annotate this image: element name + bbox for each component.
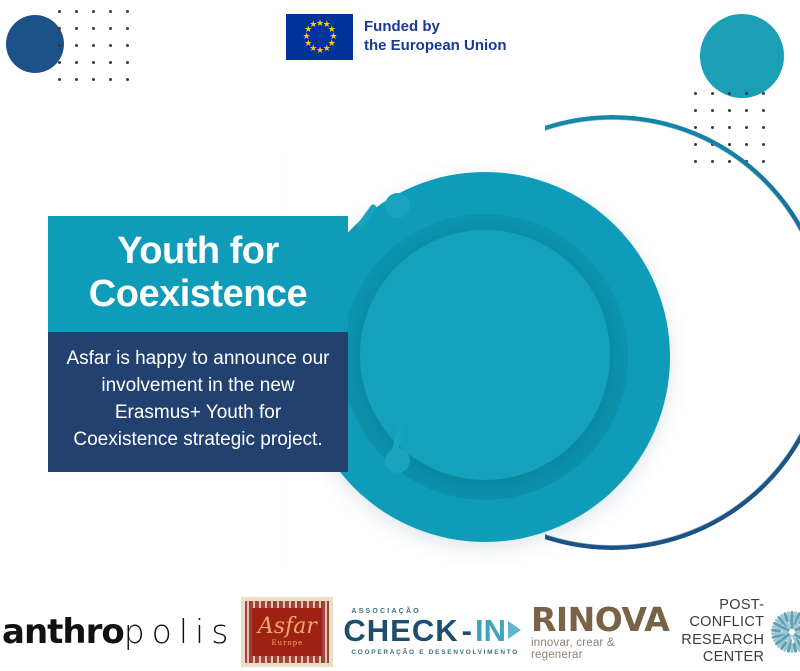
connector-node-bottom [385,448,410,473]
logo-pcrc-burst-icon [771,611,800,653]
logo-check-in-dash: - [462,615,472,646]
eu-star-icon: ★ [316,47,323,54]
logo-check-in-word-in: IN [475,615,506,646]
logo-pcrc-line3: CENTER [681,649,764,666]
logo-check-in: ASSOCIAÇÃO CHECK - IN COOPERAÇÃO E DESEN… [343,608,521,656]
logo-rinova-wordmark: RINOVA [531,603,669,636]
logo-pcrc-line2: RESEARCH [681,632,764,649]
eu-funding-label: Funded by the European Union [364,18,507,56]
eu-star-icon: ★ [309,21,316,28]
decor-circle-top-left [6,15,64,73]
logo-rinova: RINOVA innovar, crear & regenerar [531,603,669,661]
logo-pcrc-text: POST-CONFLICT RESEARCH CENTER [681,597,764,665]
headline-body-text: Asfar is happy to announce our involveme… [48,332,348,472]
connector-node-top [385,193,410,218]
logo-check-in-arrow-icon [508,621,521,639]
eu-star-icon: ★ [303,33,310,40]
logo-rinova-tagline: innovar, crear & regenerar [531,637,669,661]
logo-anthropolis-light: polis [124,612,236,651]
headline-title: Youth for Coexistence [48,216,348,332]
partner-logo-strip: anthropolis Asfar Europe ASSOCIAÇÃO CHEC… [0,592,800,671]
headline-card: Youth for Coexistence Asfar is happy to … [48,216,348,472]
eu-funding-lockup: ★★★★★★★★★★★★ Funded by the European Unio… [286,14,507,60]
concentric-circles-graphic [290,100,800,570]
eu-flag-icon: ★★★★★★★★★★★★ [286,14,353,60]
logo-check-in-word-check: CHECK [343,615,458,646]
logo-post-conflict-research-center: POST-CONFLICT RESEARCH CENTER [681,597,800,665]
logo-asfar-script: Asfar Europe [258,616,317,647]
logo-check-in-wordmark: CHECK - IN [343,615,521,646]
logo-anthropolis: anthropolis [2,612,235,652]
poster-canvas: ★★★★★★★★★★★★ Funded by the European Unio… [0,0,800,671]
decor-circle-top-right [700,14,784,98]
logo-asfar-sub-text: Europe [258,640,317,647]
logo-anthropolis-bold: anthro [2,612,124,652]
logo-asfar: Asfar Europe [241,597,333,667]
logo-pcrc-line1: POST-CONFLICT [681,597,764,631]
logo-asfar-plate: Asfar Europe [252,608,322,656]
logo-check-in-bottom-text: COOPERAÇÃO E DESENVOLVIMENTO [351,649,521,656]
logo-asfar-script-text: Asfar [258,614,317,639]
